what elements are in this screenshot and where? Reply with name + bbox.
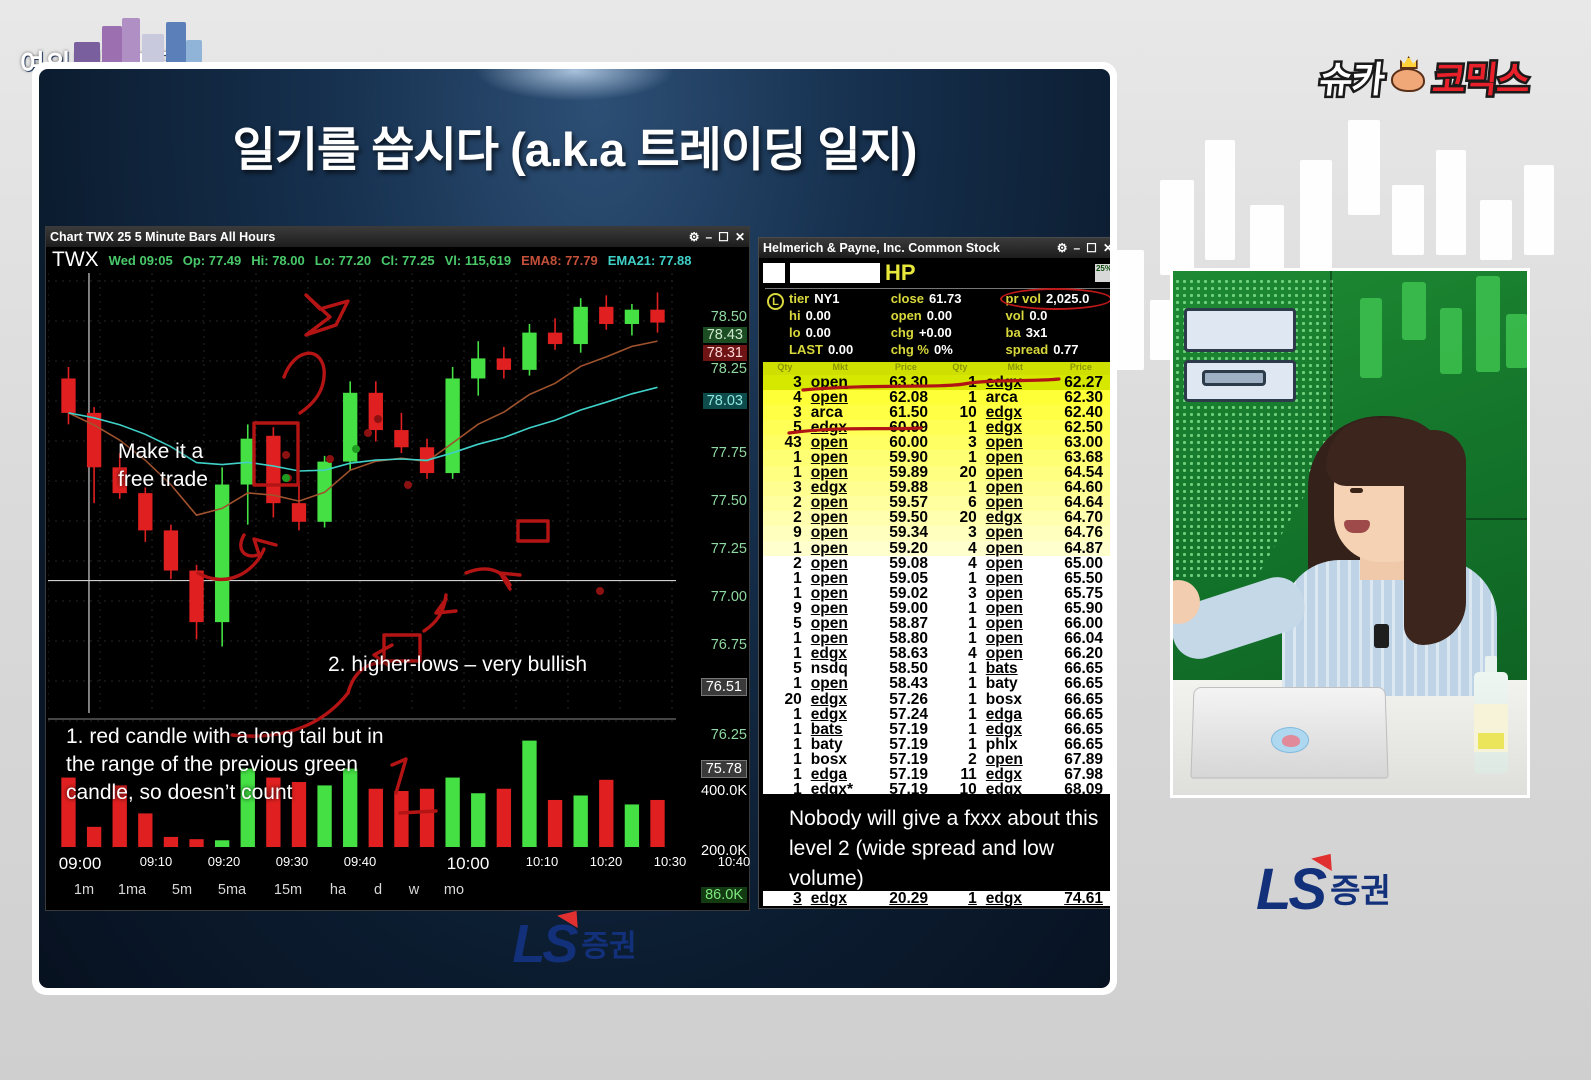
symbol-input[interactable]	[790, 263, 880, 283]
studio-candle	[1440, 308, 1462, 374]
quote-label-open: open	[891, 308, 922, 324]
laptop-sticker-icon	[1270, 727, 1308, 753]
symbol-color-swatch[interactable]	[763, 263, 785, 283]
quote-row: chg %0%	[891, 342, 1006, 358]
quote-row: spread0.77	[1006, 342, 1110, 358]
ask-price: 74.61	[1048, 890, 1110, 908]
ask-qty: 10	[938, 781, 982, 794]
quote-label-LAST: LAST	[789, 342, 823, 358]
time-tick: 10:10	[526, 854, 559, 869]
studio-candle	[1476, 276, 1500, 372]
lapel-microphone-icon	[1374, 624, 1389, 648]
quote-label-tier: tier	[789, 291, 809, 307]
bid-qty: 1	[763, 781, 807, 794]
quote-label-lo: lo	[789, 325, 801, 341]
price-tick: 77.75	[711, 445, 747, 461]
level2-quote-block: L tierNY1hi0.00lo0.00LAST0.00 close61.73…	[763, 291, 1110, 361]
ask-price: 68.09	[1048, 781, 1110, 794]
price-tick: 78.31	[703, 345, 747, 361]
time-axis: 09:0009:1009:2009:3009:4010:0010:1010:20…	[48, 854, 676, 880]
chart-ema21: EMA21: 77.88	[608, 253, 692, 268]
maximize-icon[interactable]: ☐	[1086, 241, 1097, 255]
studio-glyph-decoration	[1184, 308, 1296, 418]
quote-label-hi: hi	[789, 308, 801, 324]
price-tick: 76.51	[701, 678, 747, 696]
quote-value-prvol: 2,025.0	[1046, 291, 1089, 307]
quote-label-chg: chg	[891, 325, 914, 341]
price-axis: 78.5078.4378.3178.2578.0377.7577.5077.25…	[677, 273, 749, 852]
quote-row: pr vol2,025.0	[1006, 291, 1110, 307]
maximize-icon[interactable]: ☐	[718, 230, 729, 244]
timeframe-ha[interactable]: ha	[330, 882, 346, 898]
level2-symbol: HP	[885, 260, 916, 286]
timeframe-15m[interactable]: 15m	[274, 882, 302, 898]
bid-mkt: edgx	[807, 890, 873, 908]
quote-value-close: 61.73	[929, 291, 962, 307]
bid-price: 20.29	[873, 890, 938, 908]
chart-high: Hi: 78.00	[251, 253, 304, 268]
quote-label-ba: ba	[1006, 325, 1021, 341]
time-tick: 09:30	[276, 854, 309, 869]
presenter	[1282, 394, 1497, 694]
chart-ema8: EMA8: 77.79	[521, 253, 598, 268]
price-tick: 76.75	[711, 637, 747, 653]
presentation-panel: 일기를 씁시다 (a.k.a 트레이딩 일지) Chart TWX 25 5 M…	[32, 62, 1117, 995]
annotation-make-it-free-trade: Make it a free trade	[118, 438, 208, 494]
quote-row: tierNY1	[789, 291, 891, 307]
bid-mkt: edgx*	[807, 781, 873, 794]
quote-value-hi: 0.00	[806, 308, 831, 324]
quote-value-chg: 0%	[934, 342, 953, 358]
ask-mkt: edgx	[982, 781, 1048, 794]
ask-mkt: edgx	[982, 890, 1048, 908]
background-candle	[1205, 140, 1235, 260]
studio-candle	[1360, 298, 1382, 378]
quote-label-vol: vol	[1006, 308, 1025, 324]
slide-spotlight	[475, 69, 675, 101]
ls-logo-sidebar: LS 증권	[1256, 862, 1391, 917]
timeframe-d[interactable]: d	[374, 882, 382, 898]
price-tick: 78.03	[703, 393, 747, 409]
time-tick: 09:10	[140, 854, 173, 869]
time-tick: 09:40	[344, 854, 377, 869]
chart-quote-header: TWX Wed 09:05 Op: 77.49 Hi: 78.00 Lo: 77…	[46, 247, 749, 273]
timeframe-mo[interactable]: mo	[444, 882, 464, 898]
time-tick: 10:40	[718, 854, 751, 869]
quote-label-prvol: pr vol	[1006, 291, 1041, 307]
level2-window: Helmerich & Payne, Inc. Common Stock ⚙ –…	[758, 237, 1110, 909]
table-row[interactable]: 1edgx*57.1910edgx68.09	[763, 783, 1110, 794]
price-tick: 77.00	[711, 589, 747, 605]
price-tick: 76.25	[711, 727, 747, 743]
annotation-level2-note: Nobody will give a fxxx about this level…	[781, 798, 1110, 899]
quote-value-tier: NY1	[814, 291, 839, 307]
studio-candle	[1402, 282, 1426, 340]
price-tick: 78.50	[711, 309, 747, 325]
quote-row: ba3x1	[1006, 325, 1110, 341]
timeframe-1ma[interactable]: 1ma	[118, 882, 146, 898]
minimize-icon[interactable]: –	[1073, 241, 1080, 255]
percent-icon[interactable]: 25%	[1095, 264, 1110, 282]
chart-open: Op: 77.49	[183, 253, 242, 268]
quote-row: open0.00	[891, 308, 1006, 324]
timeframe-5ma[interactable]: 5ma	[218, 882, 246, 898]
comics-logo-white-text: 슈카	[1318, 51, 1388, 103]
chart-window-titlebar: Chart TWX 25 5 Minute Bars All Hours ⚙ –…	[46, 227, 749, 247]
price-tick: 75.78	[701, 760, 747, 778]
quote-value-spread: 0.77	[1053, 342, 1078, 358]
level2-window-title: Helmerich & Payne, Inc. Common Stock	[763, 241, 1000, 255]
time-tick: 10:20	[590, 854, 623, 869]
close-icon[interactable]: ✕	[735, 230, 745, 244]
time-tick: 09:20	[208, 854, 241, 869]
quote-row: close61.73	[891, 291, 1006, 307]
comics-logo: 슈카 코믹스	[1320, 46, 1529, 108]
quote-label-chg: chg %	[891, 342, 929, 358]
background-candle	[1348, 120, 1380, 215]
chart-window: Chart TWX 25 5 Minute Bars All Hours ⚙ –…	[45, 226, 750, 911]
chart-volume: Vl: 115,619	[445, 253, 512, 268]
chart-time: Wed 09:05	[109, 253, 173, 268]
quote-label-spread: spread	[1006, 342, 1049, 358]
bid-price: 57.19	[873, 781, 938, 794]
background-candle	[1300, 160, 1332, 270]
quote-value-LAST: 0.00	[828, 342, 853, 358]
ls-logo-kr-text: 증권	[581, 921, 636, 965]
ask-qty: 1	[938, 890, 982, 908]
page-title: 일기를 씁시다 (a.k.a 트레이딩 일지)	[39, 111, 1110, 180]
price-tick: 78.43	[703, 327, 747, 343]
studio-candle	[1506, 314, 1528, 368]
level2-symbol-row: HP 25%	[763, 260, 1110, 286]
level2-last-row: 3edgx20.291edgx74.61	[763, 891, 1110, 906]
chart-low: Lo: 77.20	[315, 253, 371, 268]
video-panel	[1170, 268, 1530, 798]
timeframe-toolbar[interactable]: 1m1ma5m5ma15mhadwmo	[48, 882, 749, 908]
shrimp-mascot-icon	[1389, 56, 1429, 98]
quote-row: LAST0.00	[789, 342, 891, 358]
quote-row: lo0.00	[789, 325, 891, 341]
quote-value-vol: 0.0	[1029, 308, 1047, 324]
background-candle	[1160, 180, 1194, 275]
time-tick: 09:00	[59, 854, 102, 874]
ls-logo-kr-text: 증권	[1330, 864, 1391, 912]
level2-depth-table[interactable]: QtyMktPriceQtyMktPrice 3open63.301edgx62…	[763, 362, 1110, 794]
volume-tick: 400.0K	[701, 783, 747, 799]
quote-label-close: close	[891, 291, 924, 307]
quote-value-open: 0.00	[927, 308, 952, 324]
timeframe-5m[interactable]: 5m	[172, 882, 192, 898]
laptop	[1190, 687, 1388, 779]
timeframe-w[interactable]: w	[409, 882, 419, 898]
timeframe-1m[interactable]: 1m	[74, 882, 94, 898]
ls-logo-slide: LS 증권	[512, 919, 636, 970]
quote-row: vol0.0	[1006, 308, 1110, 324]
background-candle	[1392, 185, 1424, 255]
gear-icon[interactable]: ⚙	[689, 230, 700, 244]
background-candle	[1480, 200, 1512, 260]
annotation-red-candle: 1. red candle with a long tail but in th…	[66, 723, 384, 807]
minimize-icon[interactable]: –	[705, 230, 712, 244]
chart-window-title: Chart TWX 25 5 Minute Bars All Hours	[50, 230, 275, 244]
level2-window-titlebar: Helmerich & Payne, Inc. Common Stock ⚙ –…	[759, 238, 1110, 258]
gear-icon[interactable]: ⚙	[1057, 241, 1068, 255]
water-bottle	[1474, 656, 1508, 774]
background-candle	[1524, 165, 1554, 255]
close-icon[interactable]: ✕	[1103, 241, 1110, 255]
quote-value-chg: +0.00	[919, 325, 952, 341]
comics-logo-red-text: 코믹스	[1430, 51, 1532, 103]
ls-logo-arrow-icon	[557, 911, 581, 932]
chart-symbol: TWX	[52, 248, 99, 272]
quote-row: hi0.00	[789, 308, 891, 324]
quote-value-ba: 3x1	[1026, 325, 1048, 341]
quote-value-lo: 0.00	[806, 325, 831, 341]
price-tick: 77.50	[711, 493, 747, 509]
quote-row: chg+0.00	[891, 325, 1006, 341]
bid-qty: 3	[763, 890, 807, 908]
chart-close: Cl: 77.25	[381, 253, 434, 268]
price-tick: 77.25	[711, 541, 747, 557]
annotation-higher-lows: 2. higher-lows – very bullish	[328, 651, 587, 679]
level-badge-icon: L	[767, 293, 784, 310]
time-tick: 10:30	[654, 854, 687, 869]
price-tick: 78.25	[711, 361, 747, 377]
time-tick: 10:00	[447, 854, 490, 874]
background-candle	[1436, 150, 1466, 255]
